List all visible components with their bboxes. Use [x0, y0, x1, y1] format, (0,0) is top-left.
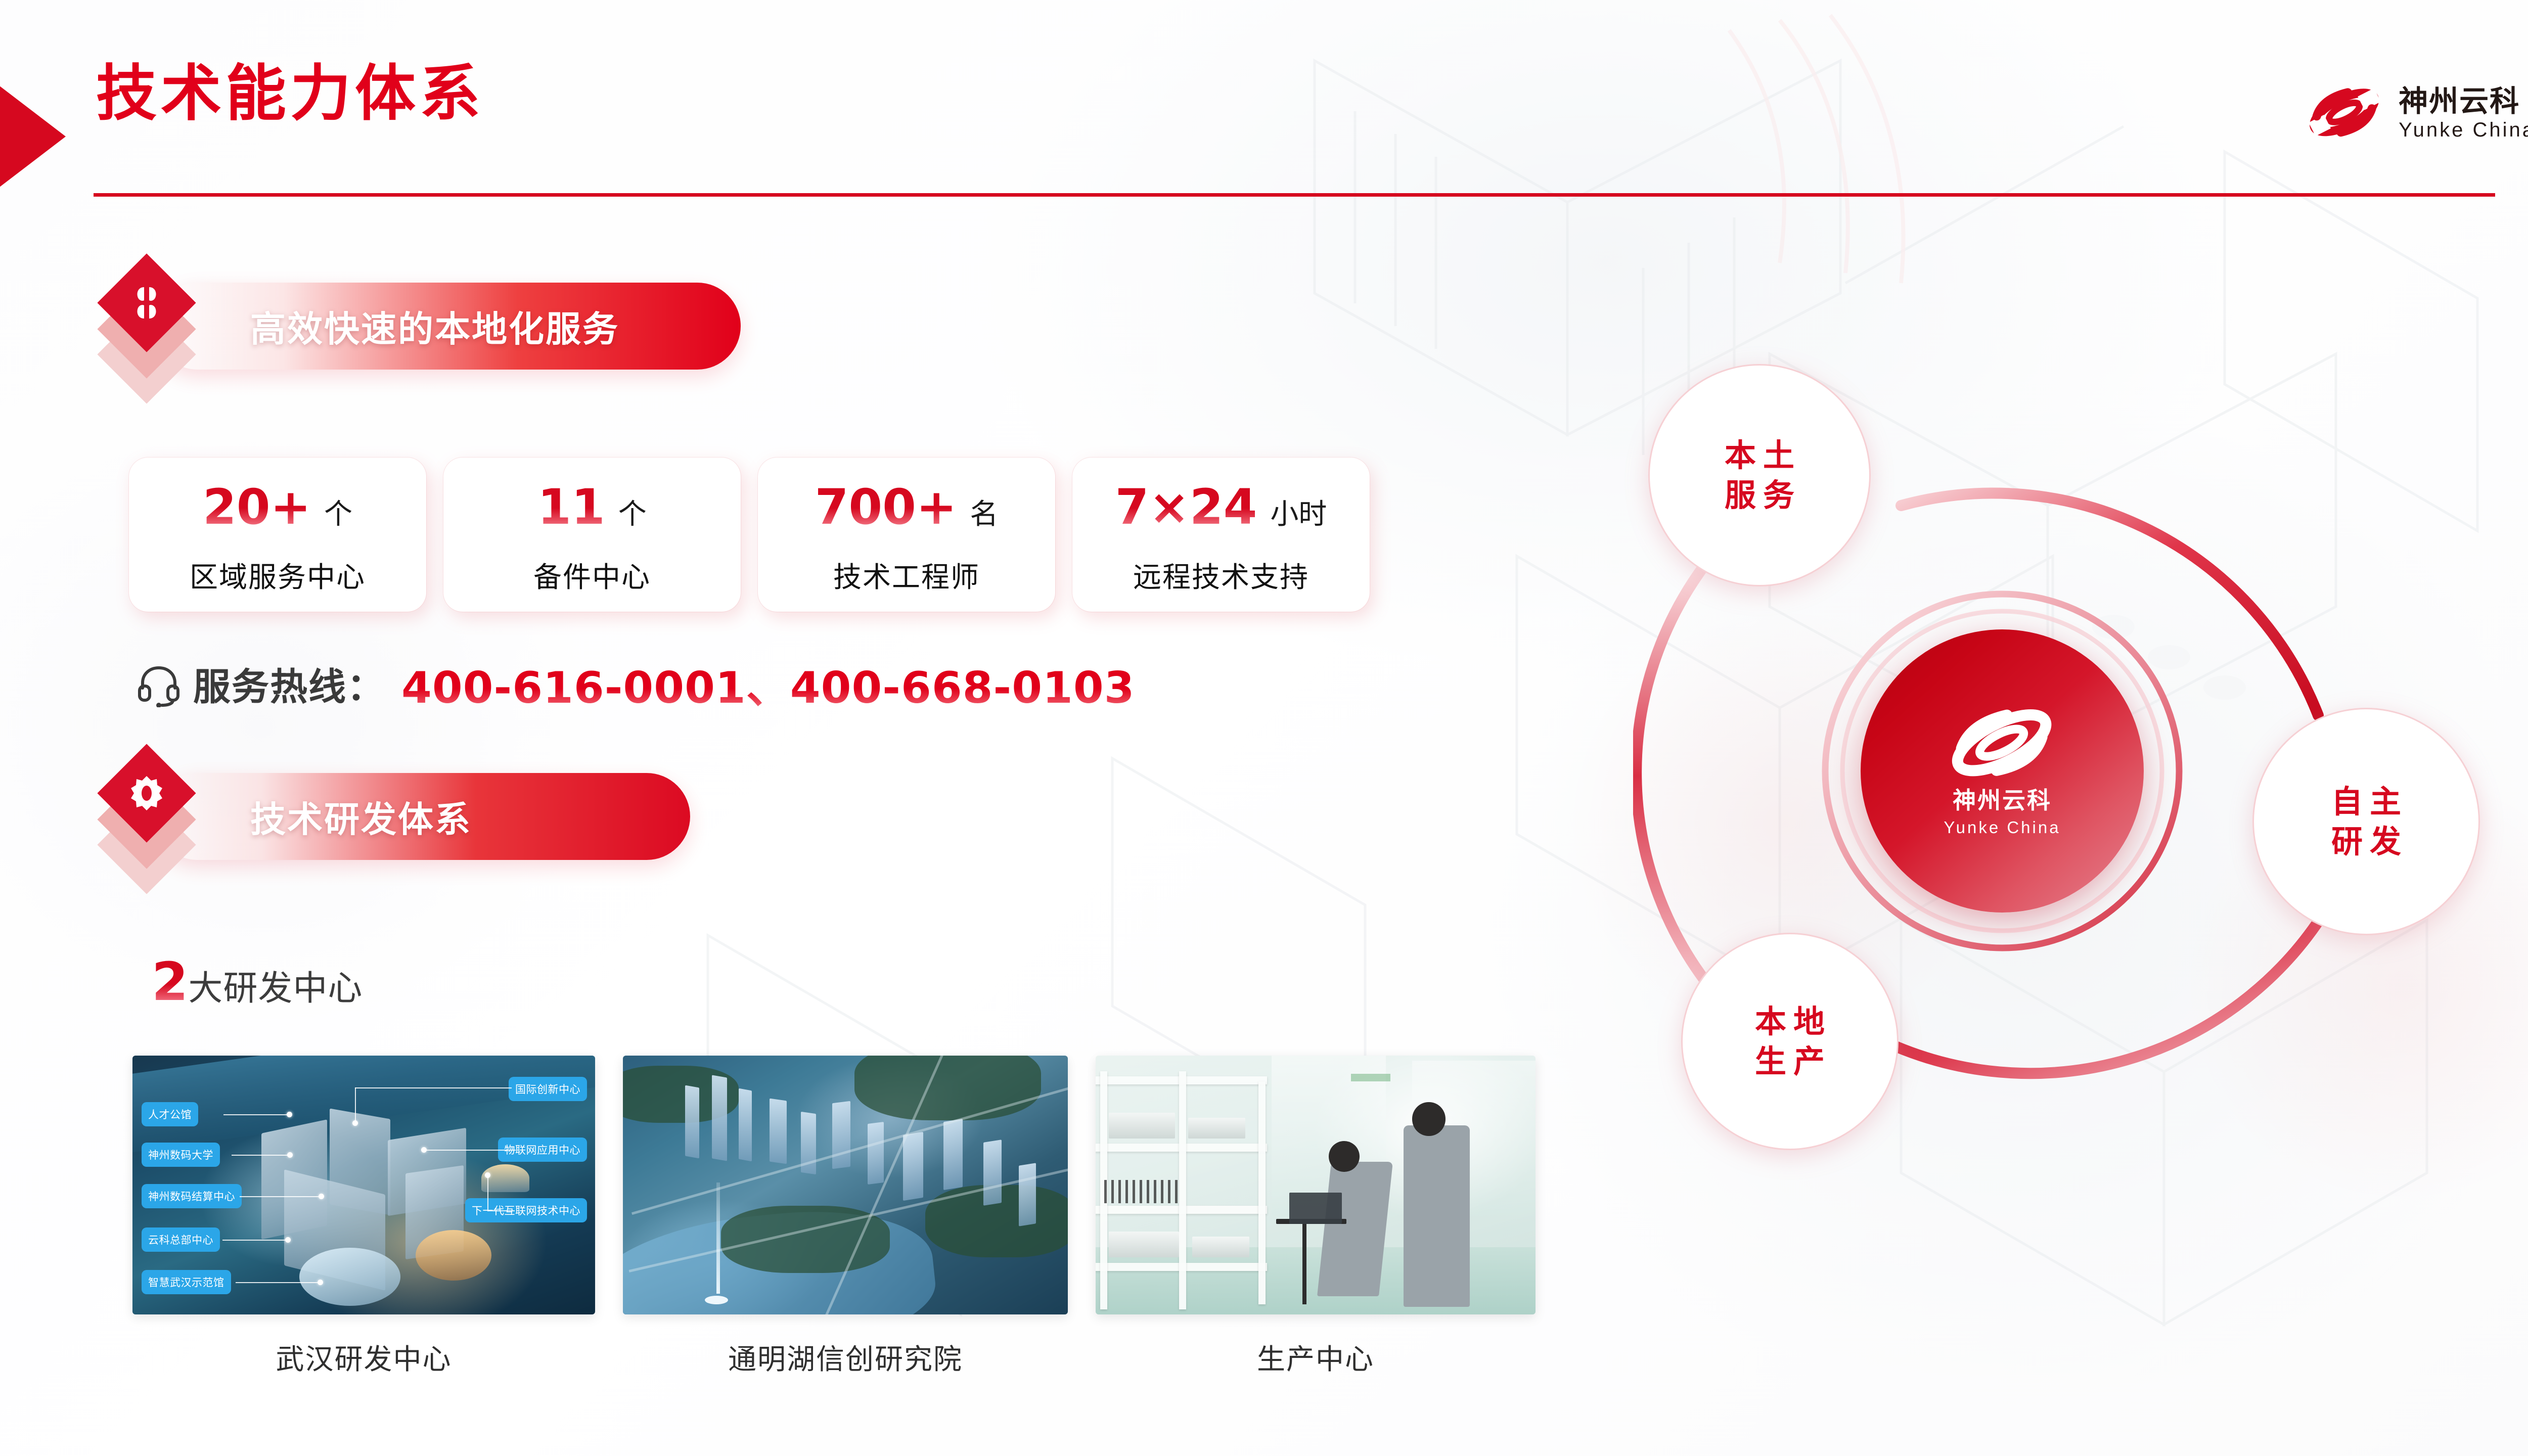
- brand-name-en: Yunke China: [2399, 119, 2528, 142]
- photo1-lead-line: [232, 1155, 291, 1156]
- node-line-1: 自主: [2324, 782, 2408, 822]
- brand-logo: 神州云科 Yunke China: [2305, 81, 2528, 147]
- stat-unit: 个: [618, 491, 647, 532]
- photo1-lead-dot: [287, 1112, 292, 1117]
- node-line-2: 服务: [1718, 475, 1801, 515]
- photo1-plaza: [416, 1230, 491, 1281]
- photo3-server-unit: [1192, 1237, 1249, 1257]
- stat-top-row: 11 个: [537, 483, 647, 543]
- service-hotline: 服务热线： 400-616-0001、400-668-0103: [136, 652, 1135, 715]
- stat-top-row: 20+ 个: [203, 483, 352, 543]
- photo1-lead-dot: [318, 1280, 323, 1285]
- section-label-1: 高效快速的本地化服务: [250, 301, 619, 352]
- photo3-worker: [1404, 1125, 1470, 1306]
- stat-top-row: 7×24 小时: [1115, 483, 1327, 543]
- stat-number: 700+: [815, 483, 957, 531]
- photo1-lead-line: [355, 1087, 356, 1123]
- stat-unit: 小时: [1270, 491, 1327, 532]
- brand-text-block: 神州云科 Yunke China: [2399, 86, 2528, 142]
- photo1-lead-line: [355, 1087, 512, 1088]
- rd-center-count: 2 大研发中心: [152, 955, 363, 1010]
- butterfly-glyph-icon: [112, 268, 182, 338]
- page-title: 技术能力体系: [96, 61, 484, 127]
- node-line-2: 研发: [2324, 822, 2408, 861]
- stat-number: 20+: [203, 483, 311, 531]
- photo-item[interactable]: 人才公馆 神州数码大学 神州数码结算中心 云科总部中心 智慧武汉示范馆 国际创新…: [132, 1056, 595, 1378]
- yunke-swirl-icon-white: [1943, 705, 2062, 786]
- stat-card[interactable]: 11 个 备件中心: [443, 458, 741, 612]
- stat-number: 11: [537, 483, 605, 531]
- photo3-worker-head: [1412, 1102, 1445, 1136]
- photo2-tower: [712, 1075, 727, 1161]
- photo1-dome: [299, 1248, 400, 1306]
- capability-circle-diagram: 神州云科 Yunke China 本土 服务 自主 研发 本地 生产: [1633, 354, 2528, 1264]
- photo3-server-unit: [1188, 1118, 1245, 1139]
- diagram-node-self-research[interactable]: 自主 研发: [2252, 708, 2480, 935]
- stat-label: 远程技术支持: [1133, 555, 1309, 596]
- rd-count-text: 大研发中心: [188, 960, 363, 1010]
- rd-count-number: 2: [152, 955, 188, 1008]
- photo3-shelf-post: [1258, 1081, 1266, 1304]
- photo2-tower: [903, 1131, 923, 1200]
- photo1-lead-line: [425, 1150, 516, 1151]
- photo1-lead-dot: [485, 1172, 490, 1178]
- photo3-shelf-post: [1179, 1071, 1186, 1309]
- yunke-swirl-icon: [2305, 81, 2385, 147]
- stat-top-row: 700+ 名: [815, 483, 999, 543]
- diagram-center-circle: 神州云科 Yunke China: [1861, 629, 2144, 913]
- photo1-lead-dot: [287, 1152, 293, 1158]
- photo-wuhan-rd-center[interactable]: 人才公馆 神州数码大学 神州数码结算中心 云科总部中心 智慧武汉示范馆 国际创新…: [132, 1056, 595, 1314]
- stat-card[interactable]: 7×24 小时 远程技术支持: [1072, 458, 1370, 612]
- stat-unit: 个: [324, 491, 352, 532]
- photo1-lead-line: [223, 1114, 290, 1115]
- center-brand-cn: 神州云科: [1953, 782, 2052, 815]
- stat-label: 区域服务中心: [190, 555, 366, 596]
- photo2-tower: [832, 1101, 850, 1169]
- photo1-callout: 神州数码结算中心: [142, 1184, 242, 1208]
- photo1-lead-line: [222, 1240, 288, 1241]
- photo1-pavilion: [481, 1164, 529, 1192]
- stat-unit: 名: [970, 491, 998, 532]
- photo3-cart-pole: [1302, 1224, 1306, 1304]
- photo-production-center[interactable]: [1096, 1056, 1536, 1314]
- photo1-lead-dot: [352, 1120, 358, 1126]
- diagram-node-local-production[interactable]: 本地 生产: [1681, 933, 1899, 1150]
- photo1-callout: 国际创新中心: [509, 1077, 587, 1101]
- photo-item[interactable]: 通明湖信创研究院: [623, 1056, 1068, 1378]
- photo1-callout: 下一代互联网技术中心: [465, 1198, 587, 1222]
- photo3-server-unit: [1109, 1113, 1175, 1139]
- section-badge-rd-system: 技术研发体系: [88, 753, 690, 880]
- photo-caption: 生产中心: [1257, 1337, 1374, 1378]
- brand-name-cn: 神州云科: [2399, 86, 2520, 117]
- photo3-worker-head: [1329, 1141, 1360, 1172]
- header-arrow-marker: [0, 71, 66, 202]
- photo-caption: 武汉研发中心: [276, 1337, 452, 1378]
- photo2-tower: [685, 1085, 699, 1159]
- photo3-server-unit: [1109, 1232, 1179, 1257]
- stat-card-row: 20+ 个 区域服务中心 11 个 备件中心 700+ 名 技术工程师 7×24…: [129, 458, 1370, 612]
- photo2-spire: [716, 1182, 720, 1294]
- section-badge-localized-service: 高效快速的本地化服务: [88, 263, 741, 389]
- photo3-cable-bundle: [1104, 1180, 1179, 1203]
- photo-item[interactable]: 生产中心: [1096, 1056, 1536, 1378]
- photo1-callout: 神州数码大学: [142, 1143, 220, 1167]
- photo1-lead-dot: [319, 1194, 324, 1199]
- photo1-callout: 云科总部中心: [142, 1227, 220, 1252]
- stat-label: 备件中心: [533, 555, 651, 596]
- photo-strip: 人才公馆 神州数码大学 神州数码结算中心 云科总部中心 智慧武汉示范馆 国际创新…: [132, 1056, 1536, 1378]
- photo-caption: 通明湖信创研究院: [728, 1337, 963, 1378]
- photo3-wall-text: [1351, 1074, 1390, 1081]
- hotline-numbers[interactable]: 400-616-0001、400-668-0103: [401, 652, 1135, 715]
- photo2-tower: [983, 1140, 1002, 1206]
- gear-diamond-icon: [88, 753, 205, 880]
- hotline-label: 服务热线：: [193, 657, 385, 711]
- node-line-1: 本地: [1748, 1002, 1832, 1041]
- photo1-lead-line: [487, 1175, 488, 1211]
- stat-card[interactable]: 20+ 个 区域服务中心: [129, 458, 426, 612]
- title-underline-rule: [94, 193, 2495, 197]
- photo1-callout: 人才公馆: [142, 1102, 198, 1126]
- photo2-greenery: [854, 1056, 1042, 1120]
- stat-number: 7×24: [1115, 483, 1257, 531]
- diagram-node-local-service[interactable]: 本土 服务: [1648, 364, 1871, 586]
- section-pill-2: 技术研发体系: [154, 773, 690, 860]
- photo2-tower: [943, 1119, 963, 1190]
- photo1-lead-line: [487, 1210, 515, 1211]
- photo2-spire-base: [705, 1296, 728, 1304]
- section-label-2: 技术研发体系: [250, 791, 472, 842]
- gear-glyph-icon: [112, 758, 182, 828]
- photo2-tower: [739, 1088, 752, 1161]
- headset-icon: [136, 661, 182, 707]
- photo1-lead-line: [240, 1196, 322, 1197]
- photo3-monitor: [1289, 1193, 1342, 1223]
- photo2-tower: [868, 1122, 884, 1185]
- stat-card[interactable]: 700+ 名 技术工程师: [758, 458, 1055, 612]
- section-pill-1: 高效快速的本地化服务: [154, 283, 741, 370]
- photo2-tower: [1019, 1163, 1036, 1226]
- photo1-callout: 智慧武汉示范馆: [142, 1270, 231, 1294]
- stat-label: 技术工程师: [833, 555, 980, 596]
- photo2-tower: [770, 1099, 787, 1164]
- center-brand-en: Yunke China: [1944, 818, 2060, 837]
- layers-diamond-icon: [88, 263, 205, 389]
- node-line-2: 生产: [1748, 1041, 1832, 1081]
- photo1-lead-dot: [285, 1237, 291, 1243]
- photo1-lead-line: [236, 1282, 321, 1283]
- photo1-lead-dot: [421, 1147, 427, 1153]
- photo-tongminghu-institute[interactable]: [623, 1056, 1068, 1314]
- node-line-1: 本土: [1718, 435, 1801, 475]
